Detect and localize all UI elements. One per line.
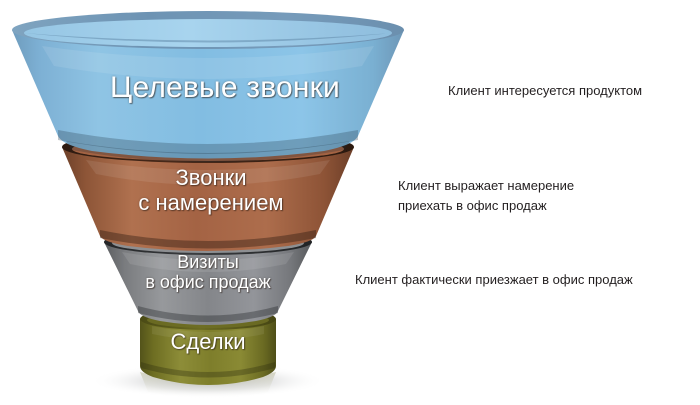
funnel-diagram: Целевые звонки Звонки с намерением Визит… <box>0 0 700 405</box>
annotation-target-calls: Клиент интересуется продуктом <box>448 81 698 101</box>
funnel-stage-target-calls <box>12 11 404 162</box>
annotation-visits-to-sales-office: Клиент фактически приезжает в офис прода… <box>355 270 700 290</box>
annotation-calls-with-intent: Клиент выражает намерение приехать в офи… <box>398 176 688 216</box>
